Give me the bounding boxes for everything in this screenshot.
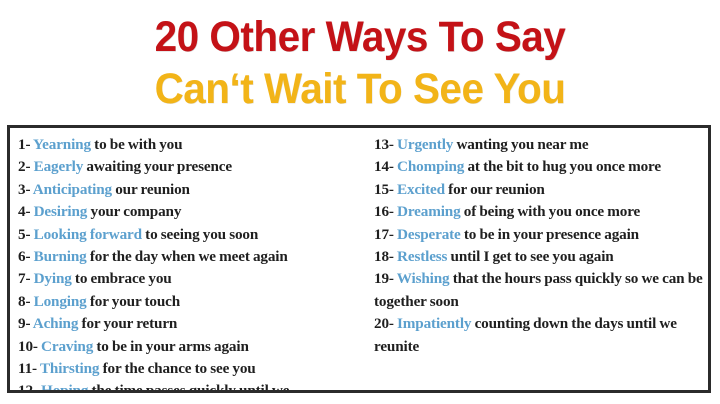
list-item: 12- Hoping the time passes quickly until… [18, 380, 358, 390]
list-item-keyword: Impatiently [394, 315, 472, 332]
list-item: 15- Excited for our reunion [374, 179, 704, 201]
list-item-number: 15- [374, 181, 394, 198]
list-item-number: 17- [374, 226, 394, 243]
list-item-keyword: Yearning [30, 136, 91, 153]
list-item: 18- Restless until I get to see you agai… [374, 246, 704, 268]
list-item-number: 14- [374, 158, 394, 175]
list-item: 17- Desperate to be in your presence aga… [374, 224, 704, 246]
list-item-keyword: Longing [30, 293, 86, 310]
list-item-keyword: Dying [30, 270, 71, 287]
list-item-number: 5- [18, 226, 30, 243]
list-item-keyword: Urgently [394, 136, 453, 153]
page-subtitle: Can‘t Wait To See You [22, 68, 699, 111]
list-item-text: your company [87, 203, 181, 220]
list-item-keyword: Desperate [394, 226, 461, 243]
list-item-keyword: Thirsting [37, 360, 99, 377]
list-item: 2- Eagerly awaiting your presence [18, 156, 358, 178]
list-item-text: for the day when we meet again [87, 248, 288, 265]
list-item: 3- Anticipating our reunion [18, 179, 358, 201]
list-item: 6- Burning for the day when we meet agai… [18, 246, 358, 268]
list-item-text: the time passes quickly until we [88, 382, 289, 390]
list-item-keyword: Looking forward [30, 226, 142, 243]
list-item-text: our reunion [112, 181, 190, 198]
list-item-text: to seeing you soon [142, 226, 258, 243]
list-item-text: of being with you once more [461, 203, 641, 220]
page-title: 20 Other Ways To Say [22, 16, 699, 59]
list-item-keyword: Craving [38, 338, 93, 355]
list-item: 1- Yearning to be with you [18, 134, 358, 156]
list-item-keyword: Chomping [394, 158, 464, 175]
list-item-text: for our reunion [445, 181, 545, 198]
list-item-text: at the bit to hug you once more [464, 158, 661, 175]
list-item: 11- Thirsting for the chance to see you [18, 358, 358, 380]
list-item: 8- Longing for your touch [18, 291, 358, 313]
phrase-column-right: 13- Urgently wanting you near me14- Chom… [362, 128, 708, 358]
list-item-keyword: Burning [30, 248, 86, 265]
list-item-text: to be in your presence again [461, 226, 639, 243]
phrase-column-left: 1- Yearning to be with you2- Eagerly awa… [10, 128, 362, 390]
list-item-number: 18- [374, 248, 394, 265]
list-item-keyword: Desiring [30, 203, 87, 220]
list-item-number: 11- [18, 360, 37, 377]
list-item-number: 2- [18, 158, 30, 175]
list-item-keyword: Aching [30, 315, 78, 332]
list-item-text: for the chance to see you [99, 360, 255, 377]
list-item-text: awaiting your presence [83, 158, 232, 175]
list-item-text: to embrace you [72, 270, 172, 287]
list-item-number: 7- [18, 270, 30, 287]
list-item: 10- Craving to be in your arms again [18, 336, 358, 358]
list-item-number: 12- [18, 382, 38, 390]
poster-canvas: 20 Other Ways To Say Can‘t Wait To See Y… [0, 0, 720, 404]
list-item-number: 19- [374, 270, 394, 287]
list-item-number: 6- [18, 248, 30, 265]
list-item-number: 3- [18, 181, 30, 198]
phrase-columns: 1- Yearning to be with you2- Eagerly awa… [10, 128, 708, 390]
list-item-text: wanting you near me [453, 136, 588, 153]
list-item-keyword: Anticipating [30, 181, 112, 198]
list-item: 19- Wishing that the hours pass quickly … [374, 268, 704, 313]
list-item: 16- Dreaming of being with you once more [374, 201, 704, 223]
list-item-keyword: Eagerly [30, 158, 83, 175]
list-item: 7- Dying to embrace you [18, 268, 358, 290]
list-item: 5- Looking forward to seeing you soon [18, 224, 358, 246]
list-item-keyword: Restless [394, 248, 448, 265]
list-item-keyword: Wishing [394, 270, 450, 287]
list-item-keyword: Dreaming [394, 203, 461, 220]
list-item: 20- Impatiently counting down the days u… [374, 313, 704, 358]
list-item-text: for your return [78, 315, 177, 332]
list-item: 14- Chomping at the bit to hug you once … [374, 156, 704, 178]
list-item-number: 13- [374, 136, 394, 153]
list-item-number: 4- [18, 203, 30, 220]
list-item-text: to be with you [91, 136, 183, 153]
list-item-keyword: Hoping [38, 382, 88, 390]
list-item-number: 9- [18, 315, 30, 332]
list-item: 4- Desiring your company [18, 201, 358, 223]
list-item-text: to be in your arms again [93, 338, 249, 355]
list-item-text: for your touch [87, 293, 180, 310]
list-item: 9- Aching for your return [18, 313, 358, 335]
list-item-number: 16- [374, 203, 394, 220]
list-item: 13- Urgently wanting you near me [374, 134, 704, 156]
list-item-number: 1- [18, 136, 30, 153]
list-item-keyword: Excited [394, 181, 445, 198]
list-item-number: 10- [18, 338, 38, 355]
poster-heading: 20 Other Ways To Say Can‘t Wait To See Y… [0, 0, 720, 124]
list-item-number: 20- [374, 315, 394, 332]
list-item-number: 8- [18, 293, 30, 310]
phrase-list-box: 1- Yearning to be with you2- Eagerly awa… [7, 125, 711, 393]
list-item-text: until I get to see you again [447, 248, 613, 265]
